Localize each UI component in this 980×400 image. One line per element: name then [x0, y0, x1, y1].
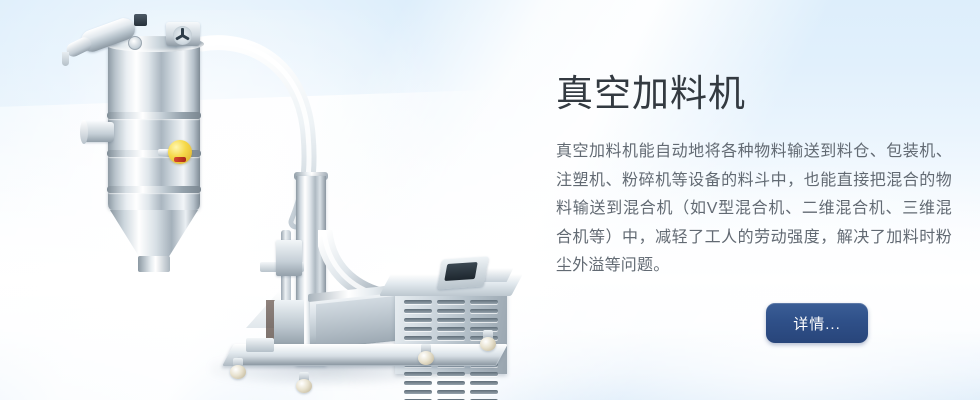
butterfly-valve-handle — [158, 140, 192, 166]
cart-base-rail — [234, 356, 501, 365]
hopper-band-upper — [107, 112, 201, 119]
valve-indicator — [174, 157, 186, 162]
column-mount-plate-upper — [276, 240, 302, 276]
hopper-discharge-cone — [110, 210, 198, 258]
head-sensor-block — [134, 14, 147, 26]
caster-wheel — [230, 358, 246, 378]
hopper-band-lower — [107, 186, 201, 193]
details-button[interactable]: 详情... — [766, 303, 868, 343]
display-panel-screen — [444, 262, 477, 281]
caster-wheel — [296, 372, 312, 392]
hopper-outlet — [138, 256, 170, 272]
banner-content: 真空加料机 真空加料机能自动地将各种物料输送到料仓、包装机、注塑机、粉碎机等设备… — [556, 0, 956, 400]
product-image — [60, 0, 480, 400]
product-description: 真空加料机能自动地将各种物料输送到料仓、包装机、注塑机、粉碎机等设备的料斗中，也… — [556, 138, 952, 281]
page-title: 真空加料机 — [556, 71, 746, 117]
head-drain-spout — [62, 52, 69, 66]
side-inlet-stub — [84, 122, 114, 142]
fan-vent-icon — [173, 26, 192, 45]
product-banner: 真空加料机 真空加料机能自动地将各种物料输送到料仓、包装机、注塑机、粉碎机等设备… — [0, 0, 980, 400]
caster-wheel — [418, 344, 434, 364]
pressure-gauge — [128, 36, 142, 50]
column-mount-plate-lower — [274, 300, 304, 348]
caster-wheel — [480, 330, 496, 350]
side-inlet-cap — [80, 120, 88, 144]
vacuum-hopper-chamber — [108, 42, 200, 210]
feed-tray-interior — [316, 296, 398, 349]
cart-foot-bracket — [246, 338, 274, 352]
